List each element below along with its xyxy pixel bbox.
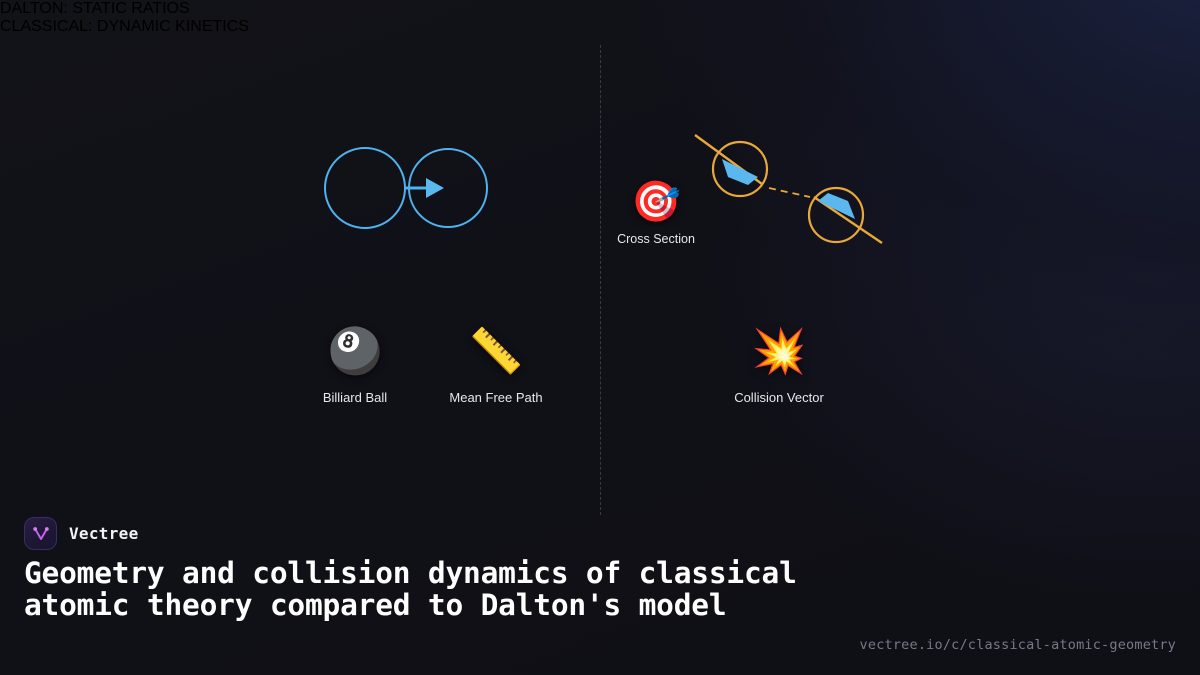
collision-path-dashed-link [769,188,810,197]
footer: Vectree Geometry and collision dynamics … [0,505,1200,675]
panel-header-dalton: DALTON: STATIC RATIOS [0,0,1200,18]
source-url: vectree.io/c/classical-atomic-geometry [860,637,1176,653]
dalton-ratio-arrow-head [426,178,444,198]
panel-header-classical: CLASSICAL: DYNAMIC KINETICS [0,18,1200,36]
incoming-vector-arrowhead [722,159,758,185]
concept-billiard-ball: 🎱 Billiard Ball [285,324,425,405]
slide-canvas: DALTON: STATIC RATIOS CLASSICAL: DYNAMIC… [0,0,1200,675]
concept-label: Collision Vector [734,390,824,405]
vectree-fork-logo-icon [24,517,57,550]
brand-lockup: Vectree [24,517,139,550]
ruler-icon: 📏 [469,324,524,380]
scattering-circle-outgoing [809,188,863,242]
billiard-ball-icon: 🎱 [328,324,383,380]
dalton-atom-circle-left [325,148,405,228]
dalton-static-ratios-diagram [300,120,560,260]
concept-collision-vector: 💥 Collision Vector [709,324,849,405]
collision-burst-icon: 💥 [752,324,807,380]
target-icon: 🎯 [631,178,681,226]
outgoing-vector-arrowhead [818,193,855,219]
concept-mean-free-path: 📏 Mean Free Path [426,324,566,405]
concept-label: Cross Section [617,232,695,246]
concept-label: Mean Free Path [449,390,542,405]
page-title: Geometry and collision dynamics of class… [24,557,814,621]
concept-label: Billiard Ball [323,390,387,405]
brand-name: Vectree [69,524,139,543]
concept-cross-section: 🎯 Cross Section [586,178,726,246]
panel-divider [600,45,601,515]
